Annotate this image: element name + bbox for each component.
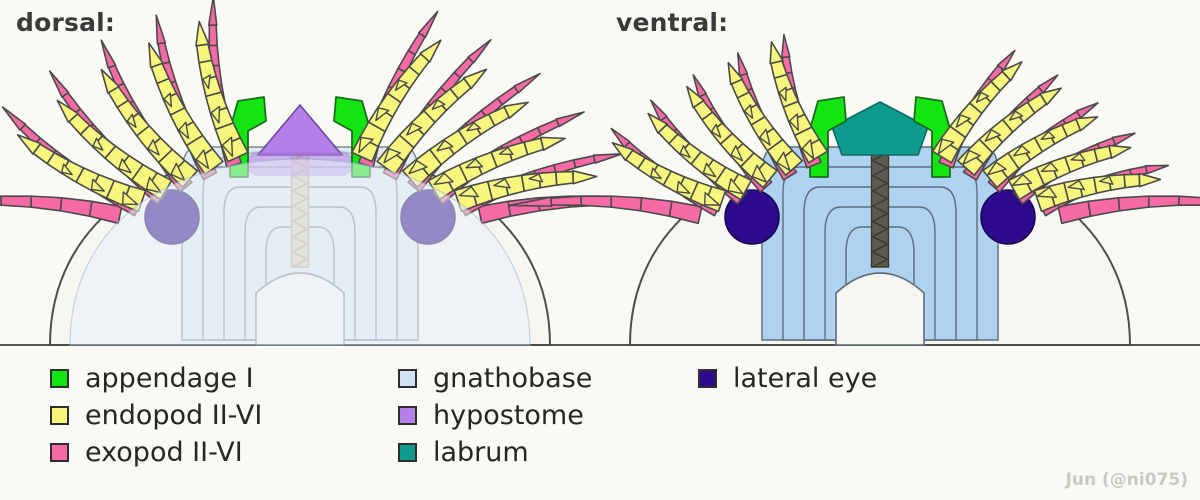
legend-column-2: gnathobase hypostome labrum — [398, 360, 592, 471]
legend-column-1: appendage I endopod II-VI exopod II-VI — [50, 360, 262, 471]
exopod-right-5-tip — [594, 154, 623, 163]
legend-swatch-hypostome — [398, 406, 417, 425]
legend-label-gnathobase: gnathobase — [433, 365, 592, 392]
labrum-group — [832, 102, 928, 155]
exopod-right-4-tip — [556, 112, 584, 126]
legend-swatch-labrum — [398, 443, 417, 462]
legend-swatch-gnathobase — [398, 369, 417, 388]
legend-label-labrum: labrum — [433, 439, 529, 466]
view-ventral — [509, 35, 1200, 345]
lateral-exopod-left — [0, 196, 122, 223]
legend-column-3: lateral eye — [698, 360, 877, 397]
exopod-left-5-tip — [3, 107, 26, 130]
exopod-left-2-tip — [738, 53, 748, 76]
lateral-exopod-left-segment — [31, 196, 62, 211]
endopod-right-4-tip — [1109, 145, 1131, 158]
lateral-exopod-right-segment — [1088, 198, 1119, 216]
exopod-right-4-segment — [538, 120, 559, 135]
endopod-left-1-segment — [197, 44, 212, 63]
lateral-exopod-left-segment — [640, 198, 671, 216]
view-dorsal — [0, 0, 671, 345]
lateral-exopod-right-segment — [1179, 196, 1200, 205]
artist-signature: Jun (@ni075) — [1066, 470, 1188, 490]
lateral-exopod-left-segment — [1, 196, 31, 207]
legend: appendage I endopod II-VI exopod II-VI g… — [0, 360, 1200, 500]
legend-label-lateral-eye: lateral eye — [733, 365, 877, 392]
legend-item-exopod: exopod II-VI — [50, 434, 262, 471]
lateral-exopod-right-segment — [1149, 196, 1179, 207]
exopod-right-1-tip — [419, 11, 438, 37]
lateral-exopod-left-segment — [551, 196, 581, 205]
legend-label-exopod: exopod II-VI — [85, 439, 243, 466]
endopod-right-5-tip — [1139, 174, 1160, 187]
exopod-right-2-tip — [468, 40, 491, 63]
exopod-left-1-segment — [209, 25, 217, 45]
exopod-left-1-tip — [782, 35, 790, 58]
endopod-right-5-segment — [556, 172, 573, 185]
legend-item-endopod: endopod II-VI — [50, 397, 262, 434]
legend-swatch-lateral-eye — [698, 369, 717, 388]
endopod-right-4-tip — [541, 137, 565, 150]
endopod-left-1-tip — [770, 42, 783, 64]
legend-item-lateral-eye: lateral eye — [698, 360, 877, 397]
legend-item-gnathobase: gnathobase — [398, 360, 592, 397]
exopod-right-3-segment — [498, 87, 519, 105]
legend-label-hypostome: hypostome — [433, 402, 584, 429]
labrum — [832, 102, 928, 155]
legend-item-labrum: labrum — [398, 434, 592, 471]
legend-item-appendage-i: appendage I — [50, 360, 262, 397]
lateral-exopod-left-segment — [581, 196, 611, 207]
lateral-exopod-right-segment — [1118, 196, 1149, 211]
legend-item-hypostome: hypostome — [398, 397, 592, 434]
endopod-right-3-tip — [504, 102, 528, 118]
exopod-left-4-tip — [50, 71, 69, 97]
exopod-right-5-segment — [574, 156, 595, 168]
lateral-exopod-left-segment — [611, 196, 642, 211]
exopod-right-5-tip — [1146, 165, 1169, 173]
legend-label-endopod: endopod II-VI — [85, 402, 262, 429]
exopod-left-3-tip — [101, 40, 115, 68]
exopod-right-3-tip — [1077, 103, 1098, 118]
legend-swatch-exopod — [50, 443, 69, 462]
endopod-right-5-segment — [1124, 174, 1139, 187]
legend-label-appendage-i: appendage I — [85, 365, 254, 392]
exopod-right-4-tip — [1113, 133, 1135, 145]
figure-canvas: dorsal: ventral: appendage I endopod II-… — [0, 0, 1200, 500]
legend-swatch-endopod — [50, 406, 69, 425]
exopod-left-2-tip — [156, 15, 165, 44]
exopod-left-1-tip — [209, 0, 217, 25]
exopod-right-3-tip — [514, 74, 540, 93]
lateral-exopod-right — [1058, 196, 1200, 223]
endopod-right-4-segment — [524, 138, 543, 154]
endopod-left-1-tip — [196, 22, 209, 46]
lateral-exopod-left-segment — [0, 196, 1, 205]
endopod-right-5-tip — [573, 171, 597, 184]
endopod-right-3-tip — [1076, 117, 1098, 131]
legend-swatch-appendage-i — [50, 369, 69, 388]
gnathobase-median-notch — [836, 273, 924, 345]
hypostome — [258, 105, 342, 155]
hypostome-group — [258, 105, 342, 155]
lateral-exopod-left-segment — [60, 198, 91, 216]
